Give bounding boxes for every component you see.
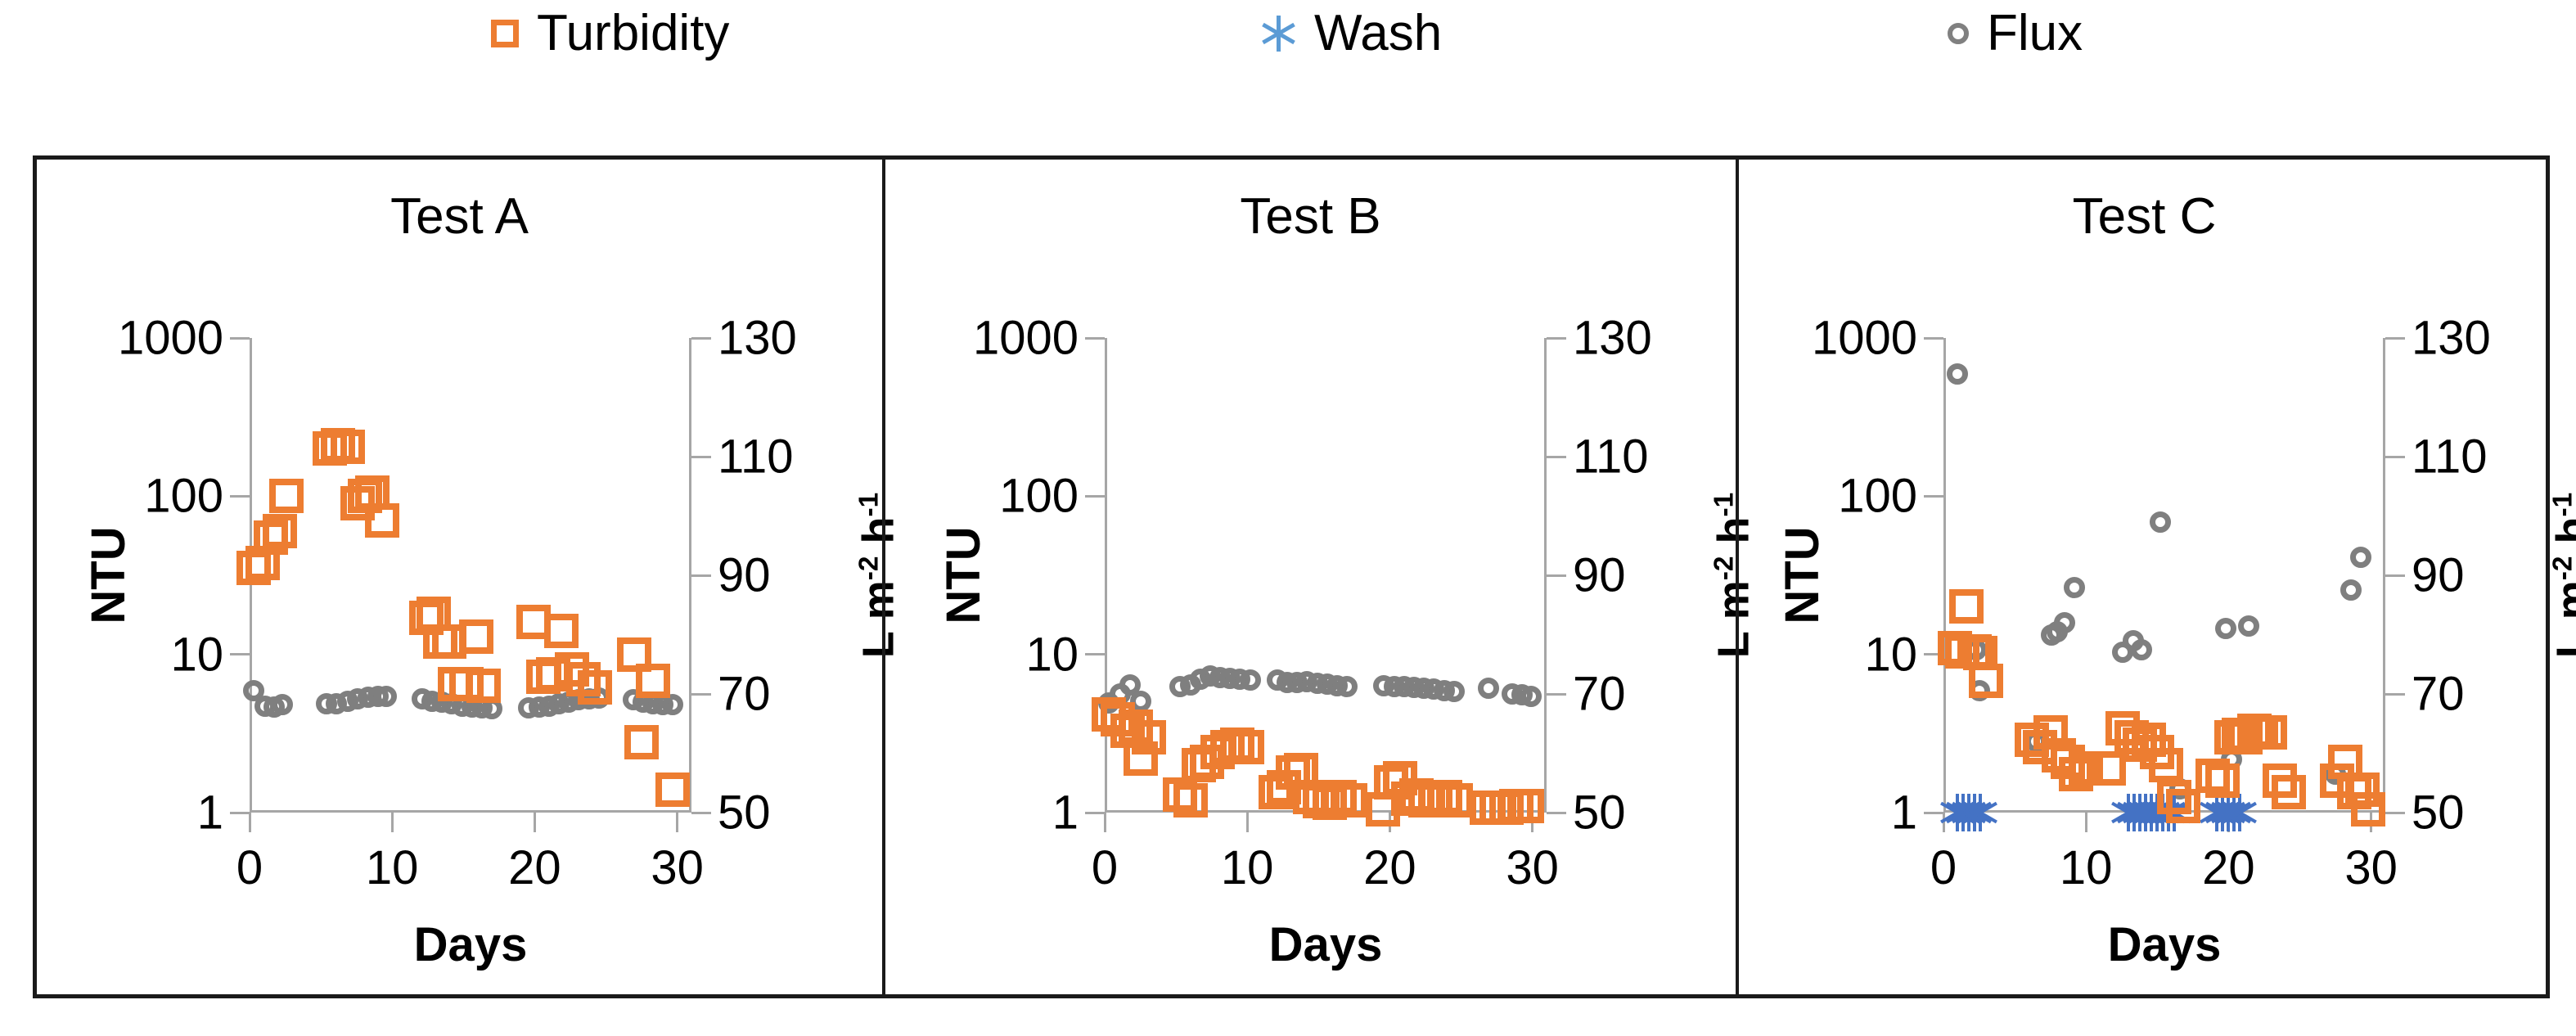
y-left-tick-label: 10 bbox=[1864, 627, 1917, 682]
turbidity-marker bbox=[2092, 751, 2126, 786]
turbidity-marker bbox=[1173, 783, 1208, 818]
y-left-tick-label: 100 bbox=[1838, 469, 1917, 524]
wash-marker bbox=[2221, 794, 2259, 831]
x-tick-label: 0 bbox=[1092, 840, 1118, 895]
y-right-tick-label: 70 bbox=[1573, 667, 1626, 722]
flux-marker bbox=[1947, 363, 1968, 385]
flux-marker bbox=[1336, 676, 1358, 697]
x-tick bbox=[2085, 813, 2087, 832]
y-axis-left-line bbox=[1105, 338, 1107, 813]
turbidity-marker bbox=[331, 430, 365, 464]
turbidity-marker bbox=[269, 479, 304, 513]
y-right-tick bbox=[1547, 337, 1566, 340]
flux-marker bbox=[1478, 678, 1499, 699]
y-right-tick bbox=[1547, 574, 1566, 577]
y-right-tick-label: 50 bbox=[1573, 786, 1626, 840]
x-axis-title: Days bbox=[1269, 917, 1383, 972]
turbidity-marker bbox=[2272, 775, 2306, 809]
x-tick-label: 20 bbox=[508, 840, 561, 895]
flux-marker bbox=[272, 694, 293, 715]
chart-legend: Turbidity Wash Flux bbox=[0, 0, 2576, 123]
flux-marker bbox=[2064, 577, 2085, 598]
y-right-tick-label: 90 bbox=[1573, 548, 1626, 603]
open-square-icon bbox=[491, 20, 519, 47]
y-right-tick-label: 50 bbox=[2412, 786, 2465, 840]
turbidity-marker bbox=[365, 503, 399, 538]
y-left-tick bbox=[230, 495, 250, 498]
y-left-tick-label: 10 bbox=[170, 627, 223, 682]
y-left-tick-label: 100 bbox=[999, 469, 1079, 524]
y-left-tick bbox=[1085, 653, 1105, 655]
x-tick-label: 20 bbox=[2202, 840, 2255, 895]
turbidity-marker bbox=[636, 664, 670, 698]
flux-marker bbox=[2054, 612, 2075, 633]
legend-label-turbidity: Turbidity bbox=[537, 8, 729, 59]
y-right-tick bbox=[691, 574, 711, 577]
y-right-tick bbox=[2385, 693, 2405, 696]
x-axis-title: Days bbox=[2108, 917, 2222, 972]
turbidity-marker bbox=[2351, 792, 2385, 827]
y-right-tick bbox=[691, 693, 711, 696]
x-tick-label: 10 bbox=[2060, 840, 2113, 895]
y-right-tick-label: 130 bbox=[2412, 311, 2491, 366]
x-tick-label: 30 bbox=[1506, 840, 1559, 895]
x-axis-line bbox=[250, 810, 691, 813]
turbidity-marker bbox=[1132, 720, 1166, 754]
y-axis-left-title: NTU bbox=[936, 526, 991, 624]
panel-title-test-c: Test C bbox=[1739, 187, 2550, 245]
y-right-tick bbox=[1547, 456, 1566, 458]
flux-marker bbox=[1240, 669, 1261, 691]
y-left-tick-label: 1 bbox=[197, 786, 223, 840]
flux-marker bbox=[2340, 579, 2362, 601]
y-right-tick-label: 70 bbox=[718, 667, 771, 722]
flux-marker bbox=[1520, 686, 1542, 707]
turbidity-marker bbox=[2205, 763, 2240, 798]
open-circle-icon bbox=[1948, 23, 1969, 44]
panel-title-test-b: Test B bbox=[885, 187, 1736, 245]
plot-area-test-a: 10001001011301109070500102030NTUL m-2 h-… bbox=[250, 338, 691, 813]
y-left-tick-label: 10 bbox=[1025, 627, 1079, 682]
y-left-tick-label: 100 bbox=[144, 469, 223, 524]
legend-item-flux: Flux bbox=[1948, 8, 2083, 59]
flux-marker bbox=[1443, 681, 1465, 702]
figure-root: Turbidity Wash Flux Test A 1000100101130… bbox=[0, 0, 2576, 1036]
y-right-tick bbox=[2385, 574, 2405, 577]
y-right-tick-label: 130 bbox=[1573, 311, 1652, 366]
y-left-tick bbox=[230, 337, 250, 340]
turbidity-marker bbox=[1439, 783, 1473, 818]
y-axis-right-title: L m-2 h-1 bbox=[2547, 493, 2576, 659]
turbidity-marker bbox=[1510, 789, 1544, 823]
plot-area-test-b: 10001001011301109070500102030NTUL m-2 h-… bbox=[1105, 338, 1547, 813]
turbidity-marker bbox=[578, 670, 612, 705]
x-tick-label: 30 bbox=[651, 840, 704, 895]
y-axis-left-title: NTU bbox=[1775, 526, 1830, 624]
x-tick bbox=[1246, 813, 1249, 832]
x-tick-label: 10 bbox=[366, 840, 419, 895]
y-left-tick bbox=[1085, 812, 1105, 814]
y-left-tick-label: 1000 bbox=[973, 311, 1079, 366]
y-right-tick bbox=[1547, 693, 1566, 696]
y-left-tick bbox=[230, 812, 250, 814]
turbidity-marker bbox=[1333, 783, 1367, 818]
turbidity-marker bbox=[2149, 748, 2183, 782]
x-tick bbox=[534, 813, 536, 832]
panel-test-c: Test C 10001001011301109070500102030NTUL… bbox=[1736, 160, 2550, 994]
turbidity-marker bbox=[459, 619, 493, 654]
turbidity-marker bbox=[466, 669, 501, 703]
plot-area-test-c: 10001001011301109070500102030NTUL m-2 h-… bbox=[1943, 338, 2385, 813]
legend-item-wash: Wash bbox=[1260, 8, 1442, 59]
turbidity-marker bbox=[1949, 589, 1984, 624]
legend-label-wash: Wash bbox=[1314, 8, 1442, 59]
x-tick-label: 10 bbox=[1221, 840, 1274, 895]
y-left-tick bbox=[1924, 337, 1943, 340]
y-left-tick-label: 1000 bbox=[118, 311, 223, 366]
turbidity-marker bbox=[1230, 730, 1264, 764]
y-right-tick-label: 50 bbox=[718, 786, 771, 840]
turbidity-marker bbox=[2253, 715, 2287, 750]
turbidity-marker bbox=[2166, 789, 2200, 823]
flux-marker bbox=[2238, 615, 2259, 637]
x-axis-title: Days bbox=[414, 917, 528, 972]
legend-item-turbidity: Turbidity bbox=[491, 8, 729, 59]
y-left-tick bbox=[1085, 337, 1105, 340]
y-left-tick-label: 1 bbox=[1052, 786, 1079, 840]
y-left-tick bbox=[1085, 495, 1105, 498]
y-left-tick bbox=[230, 653, 250, 655]
y-right-tick bbox=[1547, 812, 1566, 814]
y-left-tick bbox=[1924, 495, 1943, 498]
y-right-tick bbox=[2385, 337, 2405, 340]
y-axis-left-title: NTU bbox=[81, 526, 136, 624]
x-tick bbox=[249, 813, 251, 832]
flux-marker bbox=[2350, 547, 2371, 568]
x-tick bbox=[676, 813, 678, 832]
panels-frame: Test A 10001001011301109070500102030NTUL… bbox=[33, 155, 2550, 998]
x-tick-label: 0 bbox=[236, 840, 263, 895]
y-axis-left-line bbox=[1943, 338, 1946, 813]
x-tick-label: 0 bbox=[1930, 840, 1957, 895]
flux-marker bbox=[2131, 639, 2152, 660]
y-right-tick bbox=[691, 337, 711, 340]
y-right-tick-label: 110 bbox=[1573, 430, 1648, 484]
y-right-tick-label: 130 bbox=[718, 311, 797, 366]
y-right-tick-label: 70 bbox=[2412, 667, 2465, 722]
panel-test-a: Test A 10001001011301109070500102030NTUL… bbox=[37, 160, 882, 994]
wash-marker bbox=[1961, 794, 1999, 831]
y-left-tick-label: 1 bbox=[1891, 786, 1917, 840]
y-right-tick bbox=[2385, 456, 2405, 458]
flux-marker bbox=[376, 686, 397, 707]
panel-test-b: Test B 10001001011301109070500102030NTUL… bbox=[882, 160, 1736, 994]
x-tick-label: 30 bbox=[2344, 840, 2398, 895]
y-right-tick bbox=[691, 812, 711, 814]
y-right-tick bbox=[2385, 812, 2405, 814]
y-right-tick-label: 110 bbox=[718, 430, 793, 484]
asterisk-icon bbox=[1260, 16, 1296, 52]
y-right-tick-label: 90 bbox=[718, 548, 771, 603]
y-right-tick-label: 90 bbox=[2412, 548, 2465, 603]
turbidity-marker bbox=[655, 772, 690, 807]
y-right-tick-label: 110 bbox=[2412, 430, 2487, 484]
turbidity-marker bbox=[1969, 664, 2003, 698]
x-tick bbox=[391, 813, 394, 832]
turbidity-marker bbox=[624, 725, 659, 759]
x-tick-label: 20 bbox=[1363, 840, 1416, 895]
panel-title-test-a: Test A bbox=[37, 187, 882, 245]
y-left-tick-label: 1000 bbox=[1812, 311, 1917, 366]
turbidity-marker bbox=[544, 614, 579, 648]
x-tick bbox=[1104, 813, 1106, 832]
flux-marker bbox=[2215, 618, 2236, 639]
turbidity-marker bbox=[263, 514, 297, 548]
flux-marker bbox=[2150, 511, 2171, 533]
legend-label-flux: Flux bbox=[1987, 8, 2083, 59]
y-right-tick bbox=[691, 456, 711, 458]
